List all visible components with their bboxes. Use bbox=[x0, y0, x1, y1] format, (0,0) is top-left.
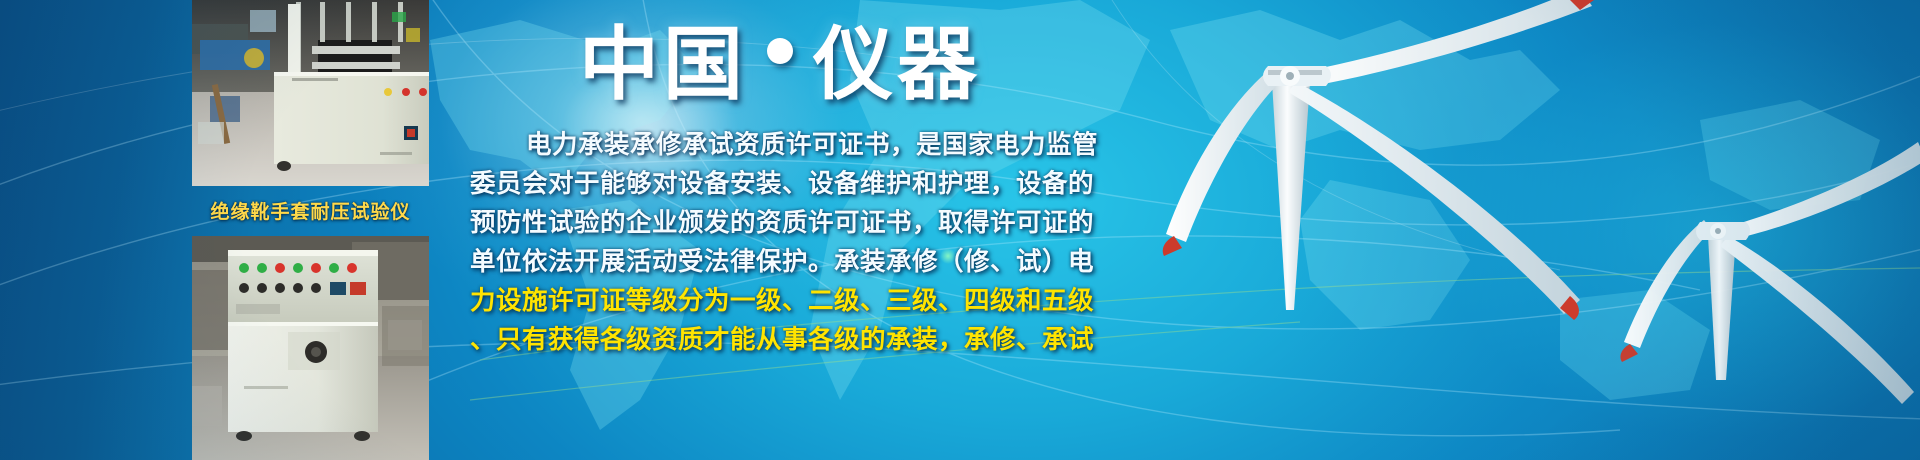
promotional-banner: 绝缘靴手套耐压试验仪 bbox=[0, 0, 1920, 460]
banner-vignette bbox=[0, 0, 1920, 460]
